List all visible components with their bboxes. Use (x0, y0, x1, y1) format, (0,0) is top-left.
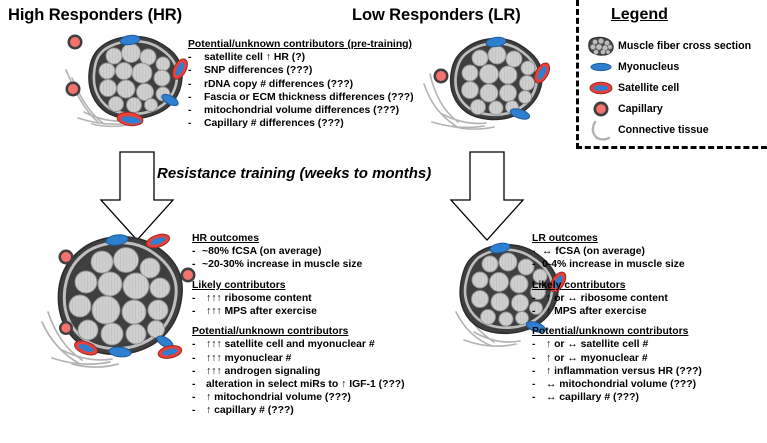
bullet-dash: - (192, 352, 206, 365)
list-item: -↑ mitochondrial volume (???) (192, 391, 405, 404)
list-item: -↑↑↑ ribosome content (192, 292, 405, 305)
capillary-icon (66, 35, 83, 97)
lr-outcomes-header: LR outcomes (532, 232, 702, 245)
list-item: -↑ MPS after exercise (532, 305, 702, 318)
bullet-dash: - (532, 245, 542, 258)
list-item-text: ↑↑↑ satellite cell and myonuclear # (206, 338, 375, 351)
lr-potential-header: Potential/unknown contributors (532, 325, 702, 338)
satellite-cell-icon (584, 78, 618, 98)
list-item: -↔ fCSA (on average) (532, 245, 702, 258)
list-item: -↑ or ↔ satellite cell # (532, 338, 702, 351)
legend-item-capillary: Capillary (584, 99, 767, 119)
bullet-dash: - (532, 305, 546, 318)
lr-outcomes-block: LR outcomes -↔ fCSA (on average) -0-4% i… (532, 232, 702, 404)
capillary-icon (434, 69, 449, 84)
legend-item-label: Satellite cell (618, 82, 679, 94)
myonucleus-icon (584, 57, 618, 77)
list-item: -↑ inflammation versus HR (???) (532, 365, 702, 378)
lr-pretraining-muscle-cluster (408, 26, 558, 146)
hr-outcomes-list: -~80% fCSA (on average) -~20-30% increas… (192, 245, 405, 271)
bullet-dash: - (532, 258, 542, 271)
list-item-text: ~20-30% increase in muscle size (202, 258, 362, 271)
list-item: -↔ mitochondrial volume (???) (532, 378, 702, 391)
hr-likely-list: -↑↑↑ ribosome content -↑↑↑ MPS after exe… (192, 292, 405, 318)
legend-item-label: Capillary (618, 103, 663, 115)
hr-potential-header: Potential/unknown contributors (192, 325, 405, 338)
lr-potential-list: -↑ or ↔ satellite cell # -↑ or ↔ myonucl… (532, 338, 702, 404)
list-item-text: ↑↑↑ ribosome content (206, 292, 312, 305)
list-item: -↑↑↑ androgen signaling (192, 365, 405, 378)
list-item: -mitochondrial volume differences (???) (188, 104, 414, 117)
bullet-dash: - (192, 258, 202, 271)
list-item: -↑↑↑ MPS after exercise (192, 305, 405, 318)
legend-item-label: Muscle fiber cross section (618, 40, 751, 52)
list-item: -0-4% increase in muscle size (532, 258, 702, 271)
list-item-text: ↔ mitochondrial volume (???) (546, 378, 696, 391)
legend-dashed-left-border (576, 0, 579, 149)
list-item-text: ~80% fCSA (on average) (202, 245, 321, 258)
list-item-text: ↑ MPS after exercise (546, 305, 647, 318)
spacer (532, 318, 702, 325)
hr-outcomes-header: HR outcomes (192, 232, 405, 245)
lr-resistance-training-arrow (448, 150, 528, 245)
list-item-text: ↔ fCSA (on average) (542, 245, 645, 258)
legend-item-satellite-cell: Satellite cell (584, 78, 767, 98)
bullet-dash: - (532, 292, 546, 305)
pre-training-list: -satellite cell ↑ HR (?) -SNP difference… (188, 51, 414, 130)
list-item-text: 0-4% increase in muscle size (542, 258, 685, 271)
resistance-training-label: Resistance training (weeks to months) (157, 165, 431, 182)
legend-title: Legend (611, 6, 668, 24)
list-item: -SNP differences (???) (188, 64, 414, 77)
list-item: -↑↑↑ satellite cell and myonuclear # (192, 338, 405, 351)
bullet-dash: - (192, 365, 206, 378)
bullet-dash: - (532, 365, 546, 378)
list-item-text: ↑↑↑ myonuclear # (206, 352, 291, 365)
list-item: -↑ or ↔ myonuclear # (532, 352, 702, 365)
bullet-dash: - (188, 104, 204, 117)
bullet-dash: - (192, 404, 206, 417)
bullet-dash: - (188, 78, 204, 91)
list-item-text: ↑ or ↔ satellite cell # (546, 338, 648, 351)
list-item-text: ↑ capillary # (???) (206, 404, 294, 417)
list-item-text: SNP differences (???) (204, 64, 312, 77)
list-item: -alteration in select miRs to ↑ IGF-1 (?… (192, 378, 405, 391)
diagram-canvas: High Responders (HR) Low Responders (LR) (0, 0, 767, 443)
hr-outcomes-block: HR outcomes -~80% fCSA (on average) -~20… (192, 232, 405, 418)
spacer (532, 272, 702, 279)
list-item: -↑ or ↔ ribosome content (532, 292, 702, 305)
list-item: -rDNA copy # differences (???) (188, 78, 414, 91)
list-item-text: ↑ inflammation versus HR (???) (546, 365, 702, 378)
bullet-dash: - (188, 91, 204, 104)
list-item-text: ↑ or ↔ myonuclear # (546, 352, 648, 365)
bullet-dash: - (532, 391, 546, 404)
bullet-dash: - (188, 64, 204, 77)
bullet-dash: - (192, 378, 206, 391)
list-item-text: ↔ capillary # (???) (546, 391, 639, 404)
legend-item-myonucleus: Myonucleus (584, 57, 767, 77)
list-item-text: alteration in select miRs to ↑ IGF-1 (??… (206, 378, 405, 391)
bullet-dash: - (188, 51, 204, 64)
muscle-fiber-cross-section-icon (584, 36, 618, 56)
hr-potential-list: -↑↑↑ satellite cell and myonuclear # -↑↑… (192, 338, 405, 417)
bullet-dash: - (188, 117, 204, 130)
high-responders-title: High Responders (HR) (8, 6, 182, 25)
bullet-dash: - (532, 378, 546, 391)
list-item-text: ↑↑↑ MPS after exercise (206, 305, 317, 318)
bullet-dash: - (532, 338, 546, 351)
list-item: -↑↑↑ myonuclear # (192, 352, 405, 365)
list-item-text: rDNA copy # differences (???) (204, 78, 353, 91)
list-item-text: ↑↑↑ androgen signaling (206, 365, 320, 378)
legend-item-connective-tissue: Connective tissue (584, 120, 767, 140)
capillary-icon (584, 99, 618, 119)
spacer (192, 318, 405, 325)
bullet-dash: - (532, 352, 546, 365)
lr-likely-list: -↑ or ↔ ribosome content -↑ MPS after ex… (532, 292, 702, 318)
list-item-text: ↑ mitochondrial volume (???) (206, 391, 351, 404)
list-item: -satellite cell ↑ HR (?) (188, 51, 414, 64)
list-item-text: satellite cell ↑ HR (?) (204, 51, 305, 64)
hr-posttraining-muscle-cluster (30, 230, 205, 380)
legend-item-label: Myonucleus (618, 61, 679, 73)
legend-item-muscle-fiber: Muscle fiber cross section (584, 36, 767, 56)
connective-tissue-icon (584, 120, 618, 140)
bullet-dash: - (192, 292, 206, 305)
hr-likely-header: Likely contributors (192, 279, 405, 292)
hr-pretraining-muscle-cluster (52, 26, 202, 146)
bullet-dash: - (192, 338, 206, 351)
list-item-text: Fascia or ECM thickness differences (???… (204, 91, 414, 104)
pre-training-header: Potential/unknown contributors (pre-trai… (188, 38, 414, 51)
list-item-text: ↑ or ↔ ribosome content (546, 292, 668, 305)
bullet-dash: - (192, 305, 206, 318)
bullet-dash: - (192, 245, 202, 258)
list-item: -~80% fCSA (on average) (192, 245, 405, 258)
list-item: -Fascia or ECM thickness differences (??… (188, 91, 414, 104)
bullet-dash: - (192, 391, 206, 404)
list-item: -Capillary # differences (???) (188, 117, 414, 130)
legend-dashed-bottom-border (576, 146, 767, 149)
pre-training-contributors-block: Potential/unknown contributors (pre-trai… (188, 38, 414, 130)
legend-panel: Legend Muscle fiber cross section (576, 0, 767, 149)
spacer (192, 272, 405, 279)
list-item: -↑ capillary # (???) (192, 404, 405, 417)
list-item: -↔ capillary # (???) (532, 391, 702, 404)
legend-item-label: Connective tissue (618, 124, 709, 136)
list-item: -~20-30% increase in muscle size (192, 258, 405, 271)
list-item-text: mitochondrial volume differences (???) (204, 104, 399, 117)
lr-outcomes-list: -↔ fCSA (on average) -0-4% increase in m… (532, 245, 702, 271)
lr-likely-header: Likely contributors (532, 279, 702, 292)
low-responders-title: Low Responders (LR) (352, 6, 521, 25)
list-item-text: Capillary # differences (???) (204, 117, 344, 130)
